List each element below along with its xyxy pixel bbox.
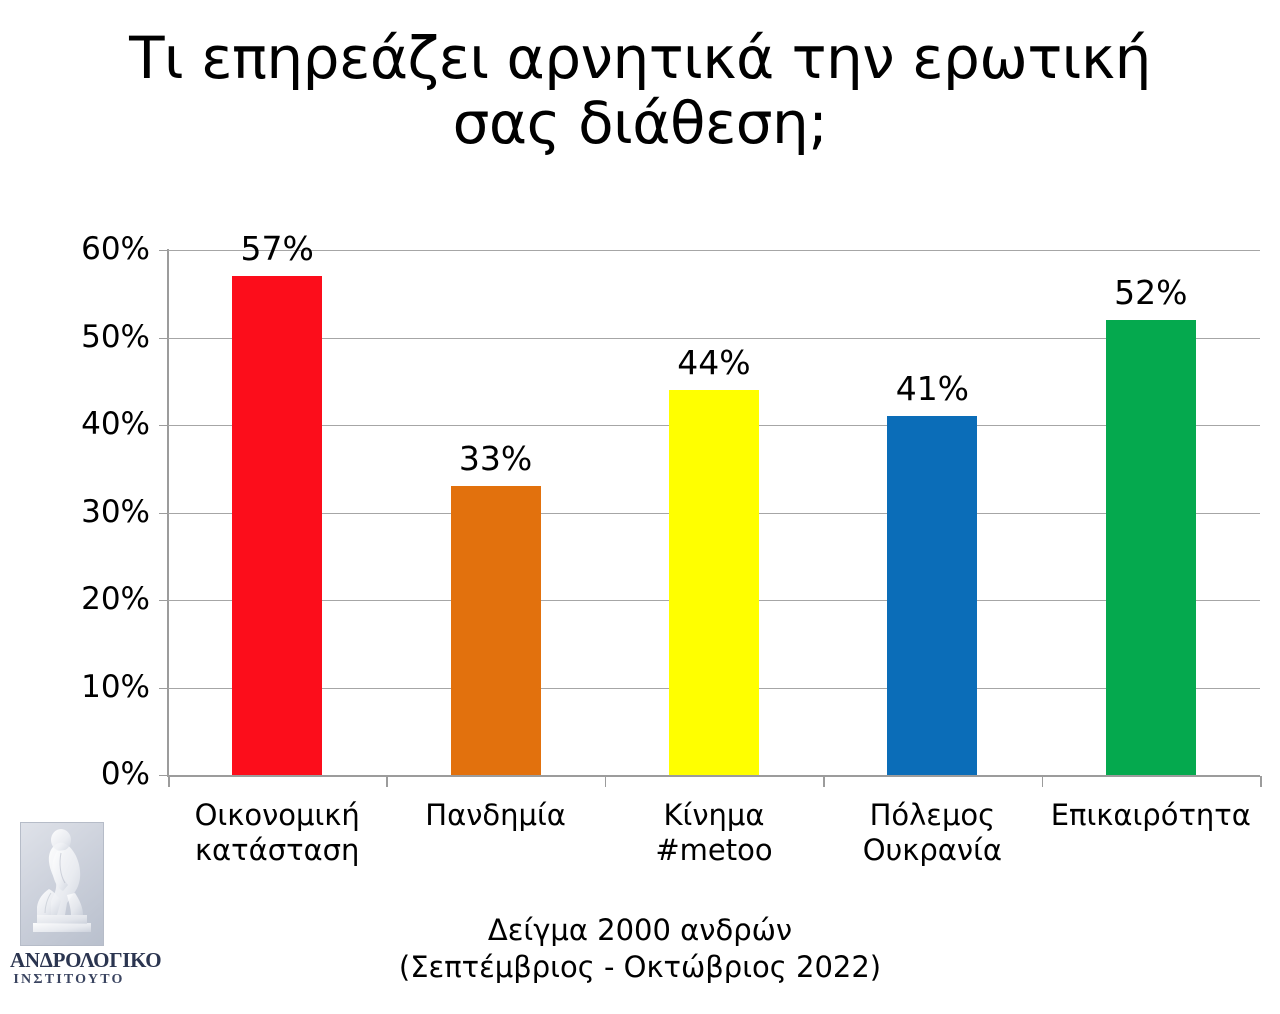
- x-tick-mark: [1042, 776, 1044, 787]
- y-tick-label: 40%: [60, 409, 150, 440]
- y-tick-label: 10%: [60, 672, 150, 703]
- category-label-line: κατάσταση: [168, 833, 386, 868]
- y-tick-label: 30%: [60, 497, 150, 528]
- y-tick-label: 60%: [60, 234, 150, 265]
- bar-value-label: 33%: [459, 442, 532, 475]
- footnote-sample-size: Δείγμα 2000 ανδρών: [340, 912, 940, 949]
- y-tick-mark: [159, 775, 168, 776]
- y-tick-mark: [159, 338, 168, 339]
- bar-value-label: 44%: [677, 346, 750, 379]
- bar[interactable]: [451, 486, 541, 775]
- x-tick-mark: [605, 776, 607, 787]
- y-tick-mark: [159, 513, 168, 514]
- chart-title-line-2: σας διάθεση;: [110, 91, 1170, 156]
- category-label: ΠόλεμοςΟυκρανία: [823, 798, 1041, 869]
- bar-value-label: 41%: [896, 372, 969, 405]
- bar[interactable]: [1106, 320, 1196, 775]
- footnote: Δείγμα 2000 ανδρών (Σεπτέμβριος - Οκτώβρ…: [340, 912, 940, 986]
- bar-value-label: 57%: [241, 232, 314, 265]
- bar-value-label: 52%: [1114, 276, 1187, 309]
- category-label-line: Επικαιρότητα: [1042, 798, 1260, 833]
- bar-slot: 52%: [1042, 250, 1260, 775]
- category-label: Κίνημα #metoo: [605, 798, 823, 869]
- logo-name-line-1: ΑΝΔΡΟΛΟΓΙΚΟ: [10, 948, 128, 973]
- bar[interactable]: [669, 390, 759, 775]
- bar-slot: 33%: [386, 250, 604, 775]
- category-label: Πανδημία: [386, 798, 604, 833]
- x-tick-mark: [823, 776, 825, 787]
- category-label: Οικονομικήκατάσταση: [168, 798, 386, 869]
- y-tick-mark: [159, 425, 168, 426]
- y-tick-mark: [159, 600, 168, 601]
- category-label-line: Οικονομική: [168, 798, 386, 833]
- category-label-line: Κίνημα #metoo: [605, 798, 823, 869]
- category-label-line: Πόλεμος: [823, 798, 1041, 833]
- bar-slot: 41%: [823, 250, 1041, 775]
- x-tick-mark: [1260, 776, 1262, 787]
- category-label-line: Πανδημία: [386, 798, 604, 833]
- chart-title: Τι επηρεάζει αρνητικά την ερωτική σας δι…: [110, 26, 1170, 156]
- bar[interactable]: [232, 276, 322, 775]
- chart-title-line-1: Τι επηρεάζει αρνητικά την ερωτική: [110, 26, 1170, 91]
- bar-slot: 57%: [168, 250, 386, 775]
- plot-area: 57%33%44%41%52%: [168, 250, 1260, 775]
- y-tick-label: 50%: [60, 322, 150, 353]
- thinker-statue-icon: [20, 822, 104, 946]
- y-tick-label: 0%: [60, 759, 150, 790]
- x-tick-mark: [168, 776, 170, 787]
- footnote-period: (Σεπτέμβριος - Οκτώβριος 2022): [340, 949, 940, 986]
- y-tick-mark: [159, 688, 168, 689]
- x-tick-mark: [386, 776, 388, 787]
- category-label: Επικαιρότητα: [1042, 798, 1260, 833]
- logo: ΑΝΔΡΟΛΟΓΙΚΟ ΙΝΣΤΙΤΟΥΤΟ: [10, 822, 128, 1004]
- logo-name-line-2: ΙΝΣΤΙΤΟΥΤΟ: [10, 972, 128, 988]
- y-tick-label: 20%: [60, 584, 150, 615]
- bar[interactable]: [887, 416, 977, 775]
- bar-slot: 44%: [605, 250, 823, 775]
- x-axis-line: [168, 775, 1260, 777]
- category-label-line: Ουκρανία: [823, 833, 1041, 868]
- y-tick-mark: [159, 250, 168, 251]
